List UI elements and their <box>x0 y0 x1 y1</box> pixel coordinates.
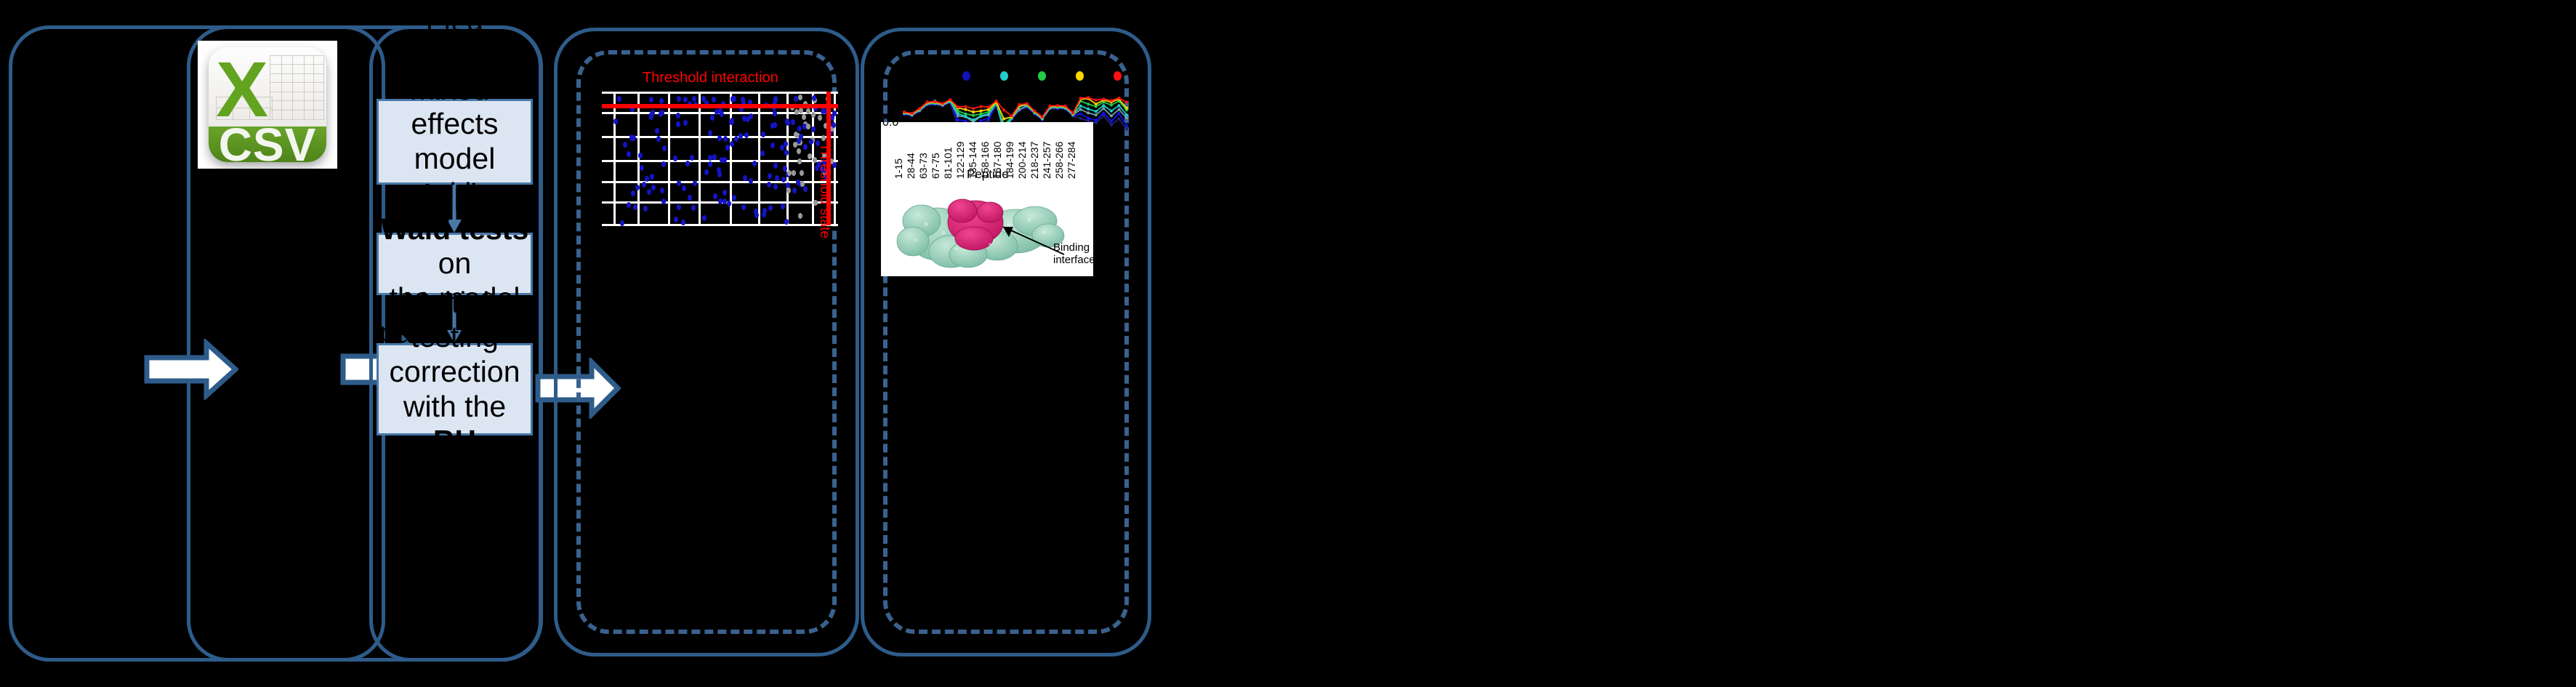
scatter-point <box>627 202 631 208</box>
line-chart-legend <box>895 70 1135 84</box>
scatter-point <box>811 126 816 132</box>
chart-data-point <box>1087 111 1090 114</box>
chart-data-point <box>1117 112 1120 115</box>
scatter-point <box>781 204 785 209</box>
chart-data-point <box>957 112 959 115</box>
binding-interface-line1: Binding <box>1053 241 1093 254</box>
scatter-point <box>794 132 798 137</box>
chart-data-point <box>972 107 975 110</box>
scatter-point <box>713 193 717 199</box>
threshold-state-label: Threshold state <box>816 143 832 238</box>
scatter-point <box>773 111 777 116</box>
chart-data-point <box>1110 120 1113 123</box>
chart-data-point <box>980 113 983 116</box>
binding-interface-annotation: Binding interface <box>1053 241 1093 267</box>
scatter-point <box>741 204 746 210</box>
peptide-tick-label: 241-257 <box>1041 142 1052 179</box>
scatter-point <box>798 213 802 219</box>
chart-data-point <box>1041 116 1044 118</box>
scatter-point <box>791 119 795 125</box>
scatter-point <box>806 108 810 114</box>
scatter-point <box>650 174 654 180</box>
scatter-point <box>775 175 779 181</box>
scatter-point <box>773 163 778 169</box>
chart-data-point <box>911 112 914 115</box>
chart-data-point <box>1117 108 1120 111</box>
scatter-point <box>809 139 813 145</box>
chart-data-point <box>1110 110 1113 113</box>
interaction-volcano-plot <box>602 92 838 225</box>
scatter-point <box>792 170 796 176</box>
scatter-point <box>673 156 677 161</box>
scatter-point <box>720 111 724 117</box>
chart-data-point <box>1125 124 1128 127</box>
chart-data-point <box>964 105 967 108</box>
scatter-point <box>661 198 666 204</box>
chart-data-point <box>1117 104 1120 107</box>
scatter-point <box>651 185 656 190</box>
chart-data-point <box>1087 108 1090 111</box>
chart-data-point <box>1079 97 1082 100</box>
scatter-point <box>770 142 775 148</box>
chart-data-point <box>1087 117 1090 120</box>
scatter-point <box>767 182 771 188</box>
peptide-tick-label: 200-214 <box>1016 142 1028 179</box>
workflow-diagram: X CSV Fit a linear mixed-effects model w… <box>0 0 2576 687</box>
peptide-tick-label: 81-101 <box>942 147 954 179</box>
scatter-point <box>704 169 709 175</box>
scatter-point <box>685 161 690 166</box>
scatter-point <box>784 219 789 225</box>
chart-data-point <box>1125 100 1128 103</box>
scatter-point <box>691 205 696 211</box>
scatter-point <box>730 141 734 147</box>
scatter-point <box>717 135 722 141</box>
scatter-point <box>651 110 655 116</box>
scatter-point <box>718 198 723 204</box>
scatter-point <box>732 195 736 201</box>
chart-data-point <box>1079 105 1082 108</box>
chart-data-point <box>964 113 967 116</box>
legend-dot <box>1038 71 1046 81</box>
scatter-point <box>677 180 681 186</box>
scatter-point <box>674 217 678 222</box>
x-axis-label: Peptide <box>967 167 1009 182</box>
chart-data-point <box>903 111 906 113</box>
chart-data-point <box>1095 110 1098 113</box>
chart-data-point <box>918 107 921 110</box>
scatter-point <box>677 204 681 210</box>
scatter-point <box>725 145 730 150</box>
scatter-point <box>811 112 816 118</box>
chart-data-point <box>1056 104 1059 107</box>
chart-data-point <box>1026 102 1029 105</box>
chart-data-point <box>1110 99 1113 102</box>
chart-data-point <box>1010 114 1013 117</box>
scatter-point <box>821 135 826 141</box>
scatter-point <box>797 126 802 132</box>
step-box-reml: Fit a linear mixed-effects model withREM… <box>377 99 533 185</box>
peptide-tick-label: 63-73 <box>917 153 929 179</box>
scatter-point <box>682 185 686 191</box>
chart-data-point <box>1117 97 1120 100</box>
legend-dot <box>1114 71 1122 81</box>
chart-data-point <box>972 111 975 113</box>
peptide-tick-label: 28-44 <box>905 153 917 179</box>
csv-sheet: X <box>209 47 326 126</box>
scatter-point <box>798 95 802 100</box>
csv-file-icon: X CSV <box>209 47 326 162</box>
scatter-point <box>802 114 806 120</box>
chart-data-point <box>957 118 959 121</box>
chart-data-point <box>957 105 959 108</box>
chart-data-point <box>964 115 967 118</box>
peptide-tick-label: 1-15 <box>893 158 904 179</box>
peptide-tick-label: 67-75 <box>930 153 941 179</box>
scatter-point <box>792 188 797 193</box>
peptide-tick-label: 218-237 <box>1029 142 1040 179</box>
scatter-point <box>620 220 624 226</box>
arrow-input-to-csv <box>144 339 238 400</box>
chart-data-point <box>1102 107 1105 110</box>
scatter-point <box>760 150 765 156</box>
chart-data-point <box>980 105 983 108</box>
chart-data-point <box>1071 111 1074 114</box>
chart-data-point <box>987 108 990 111</box>
scatter-point <box>645 176 649 182</box>
scatter-point <box>752 161 757 166</box>
chart-data-point <box>987 116 990 119</box>
scatter-point <box>688 195 692 201</box>
csv-label: CSV <box>219 118 317 163</box>
scatter-point <box>642 182 646 188</box>
chart-data-point <box>1064 105 1067 108</box>
scatter-point <box>676 121 680 127</box>
chart-data-point <box>1095 121 1098 124</box>
chart-data-point <box>1125 107 1128 110</box>
scatter-point <box>799 134 803 140</box>
chart-data-point <box>1102 97 1105 100</box>
peptide-tick-label: 277-284 <box>1066 142 1077 179</box>
scatter-point <box>744 132 749 138</box>
chart-data-point <box>1018 103 1021 106</box>
chart-data-point <box>1125 116 1128 119</box>
scatter-point <box>677 96 681 102</box>
chart-data-point <box>1095 99 1098 102</box>
chart-data-point <box>1117 118 1120 121</box>
scatter-point <box>702 215 707 221</box>
scatter-point <box>797 158 802 164</box>
threshold-interaction-line <box>602 104 838 108</box>
scatter-point <box>762 212 766 217</box>
csv-band: CSV <box>209 126 326 162</box>
scatter-point <box>676 113 680 118</box>
chart-data-point <box>987 119 990 122</box>
scatter-point <box>623 142 627 148</box>
scatter-point <box>803 144 808 150</box>
chart-data-point <box>1125 128 1128 131</box>
chart-data-point <box>933 100 936 103</box>
scatter-point <box>786 188 791 193</box>
chart-data-point <box>1079 108 1082 111</box>
chart-data-point <box>980 110 983 113</box>
csv-grid <box>270 55 323 121</box>
scatter-point <box>717 172 722 177</box>
chart-data-point <box>941 102 944 105</box>
scatter-point <box>690 155 694 161</box>
chart-data-point <box>1002 118 1005 121</box>
scatter-point <box>638 153 643 158</box>
chart-data-point <box>1095 103 1098 105</box>
scatter-point <box>786 120 790 126</box>
chart-data-point <box>1102 104 1105 107</box>
scatter-point <box>797 148 801 154</box>
scatter-point <box>773 184 778 190</box>
scatter-point <box>808 153 812 159</box>
legend-dot <box>962 71 970 81</box>
peptide-tick-label: 258-266 <box>1053 142 1065 179</box>
scatter-point <box>627 151 631 157</box>
scatter-point <box>712 154 717 160</box>
scatter-point <box>783 166 787 172</box>
scatter-point <box>796 180 800 185</box>
chart-data-point <box>1033 110 1036 113</box>
scatter-point <box>734 136 738 142</box>
scatter-point <box>770 123 775 129</box>
chart-data-point <box>1079 117 1082 120</box>
scatter-point <box>784 150 789 156</box>
chart-data-point <box>1095 119 1098 122</box>
chart-data-point <box>972 114 975 117</box>
scatter-point <box>780 145 784 150</box>
results-white-card: 1-1528-4463-7367-7581-101122-129135-1441… <box>881 122 1093 276</box>
scatter-point <box>803 186 808 192</box>
chart-data-point <box>1095 105 1098 108</box>
scatter-point <box>710 115 715 121</box>
scatter-point <box>787 170 792 176</box>
scatter-point <box>660 188 664 193</box>
scatter-point <box>649 97 653 103</box>
legend-dot <box>1000 71 1008 81</box>
scatter-point <box>683 120 688 126</box>
chart-data-point <box>1110 124 1113 126</box>
chart-data-point <box>1087 96 1090 99</box>
scatter-point <box>692 96 696 102</box>
scatter-point <box>781 177 786 182</box>
step-box-bh: Multiple testingcorrectionwith the BH pr… <box>377 343 533 435</box>
y-axis-first-tick: 0.0 <box>882 116 898 129</box>
scatter-point <box>723 157 727 163</box>
chart-data-point <box>1102 111 1105 114</box>
scatter-point <box>818 115 822 121</box>
scatter-point <box>749 178 753 184</box>
scatter-point <box>806 124 810 129</box>
scatter-point <box>715 109 719 115</box>
scatter-point <box>832 122 836 128</box>
scatter-point <box>640 165 644 171</box>
scatter-point <box>799 108 803 113</box>
scatter-point <box>660 110 664 116</box>
scatter-point <box>712 97 716 103</box>
scatter-point <box>830 115 834 121</box>
scatter-point <box>761 132 765 137</box>
chart-data-point <box>949 98 951 101</box>
scatter-point <box>800 170 804 176</box>
step-box-bh-text: Multiple testingcorrectionwith the BH pr… <box>386 286 523 493</box>
chart-data-point <box>1002 108 1005 111</box>
chart-data-point <box>1095 113 1098 116</box>
scatter-point <box>613 118 618 124</box>
scatter-point <box>768 173 772 179</box>
scatter-point <box>746 116 750 122</box>
legend-dot <box>1076 71 1084 81</box>
scatter-point <box>723 190 727 196</box>
scatter-point <box>655 128 659 134</box>
scatter-point <box>723 136 728 142</box>
scatter-point <box>727 201 731 206</box>
scatter-point <box>617 96 621 102</box>
scatter-point <box>743 175 747 181</box>
scatter-point <box>635 185 640 190</box>
threshold-interaction-label: Threshold interaction <box>643 70 778 87</box>
peptide-axis-ticks: 1-1528-4463-7367-7581-101122-129135-1441… <box>881 122 1093 170</box>
excel-x-icon: X <box>216 50 258 88</box>
scatter-point <box>661 161 666 167</box>
chart-data-point <box>1110 104 1113 107</box>
chart-data-point <box>964 108 967 111</box>
scatter-point <box>681 220 685 225</box>
scatter-point <box>738 133 743 139</box>
chart-data-point <box>1087 103 1090 105</box>
peptide-tick-label: 122-129 <box>954 142 966 179</box>
scatter-point <box>708 161 712 167</box>
chart-data-point <box>972 118 975 121</box>
scatter-point <box>647 189 651 195</box>
scatter-point <box>656 136 661 142</box>
chart-data-point <box>1079 113 1082 116</box>
binding-interface-line2: interface <box>1053 254 1093 266</box>
chart-data-point <box>987 111 990 113</box>
scatter-points-layer <box>602 92 838 225</box>
scatter-point <box>631 190 635 196</box>
scatter-point <box>693 180 697 186</box>
chart-data-point <box>1049 105 1052 108</box>
scatter-point <box>708 130 712 136</box>
chart-data-point <box>1125 113 1128 116</box>
csv-card: X CSV <box>198 41 337 169</box>
scatter-point <box>633 204 637 210</box>
chart-data-point <box>926 100 929 103</box>
scatter-point <box>768 205 773 211</box>
chart-data-point <box>1110 114 1113 117</box>
chart-data-point <box>987 105 990 108</box>
scatter-point <box>643 206 648 212</box>
chart-data-point <box>957 110 959 113</box>
chart-data-point <box>995 100 998 103</box>
scatter-point <box>683 97 688 103</box>
scatter-point <box>662 145 667 151</box>
